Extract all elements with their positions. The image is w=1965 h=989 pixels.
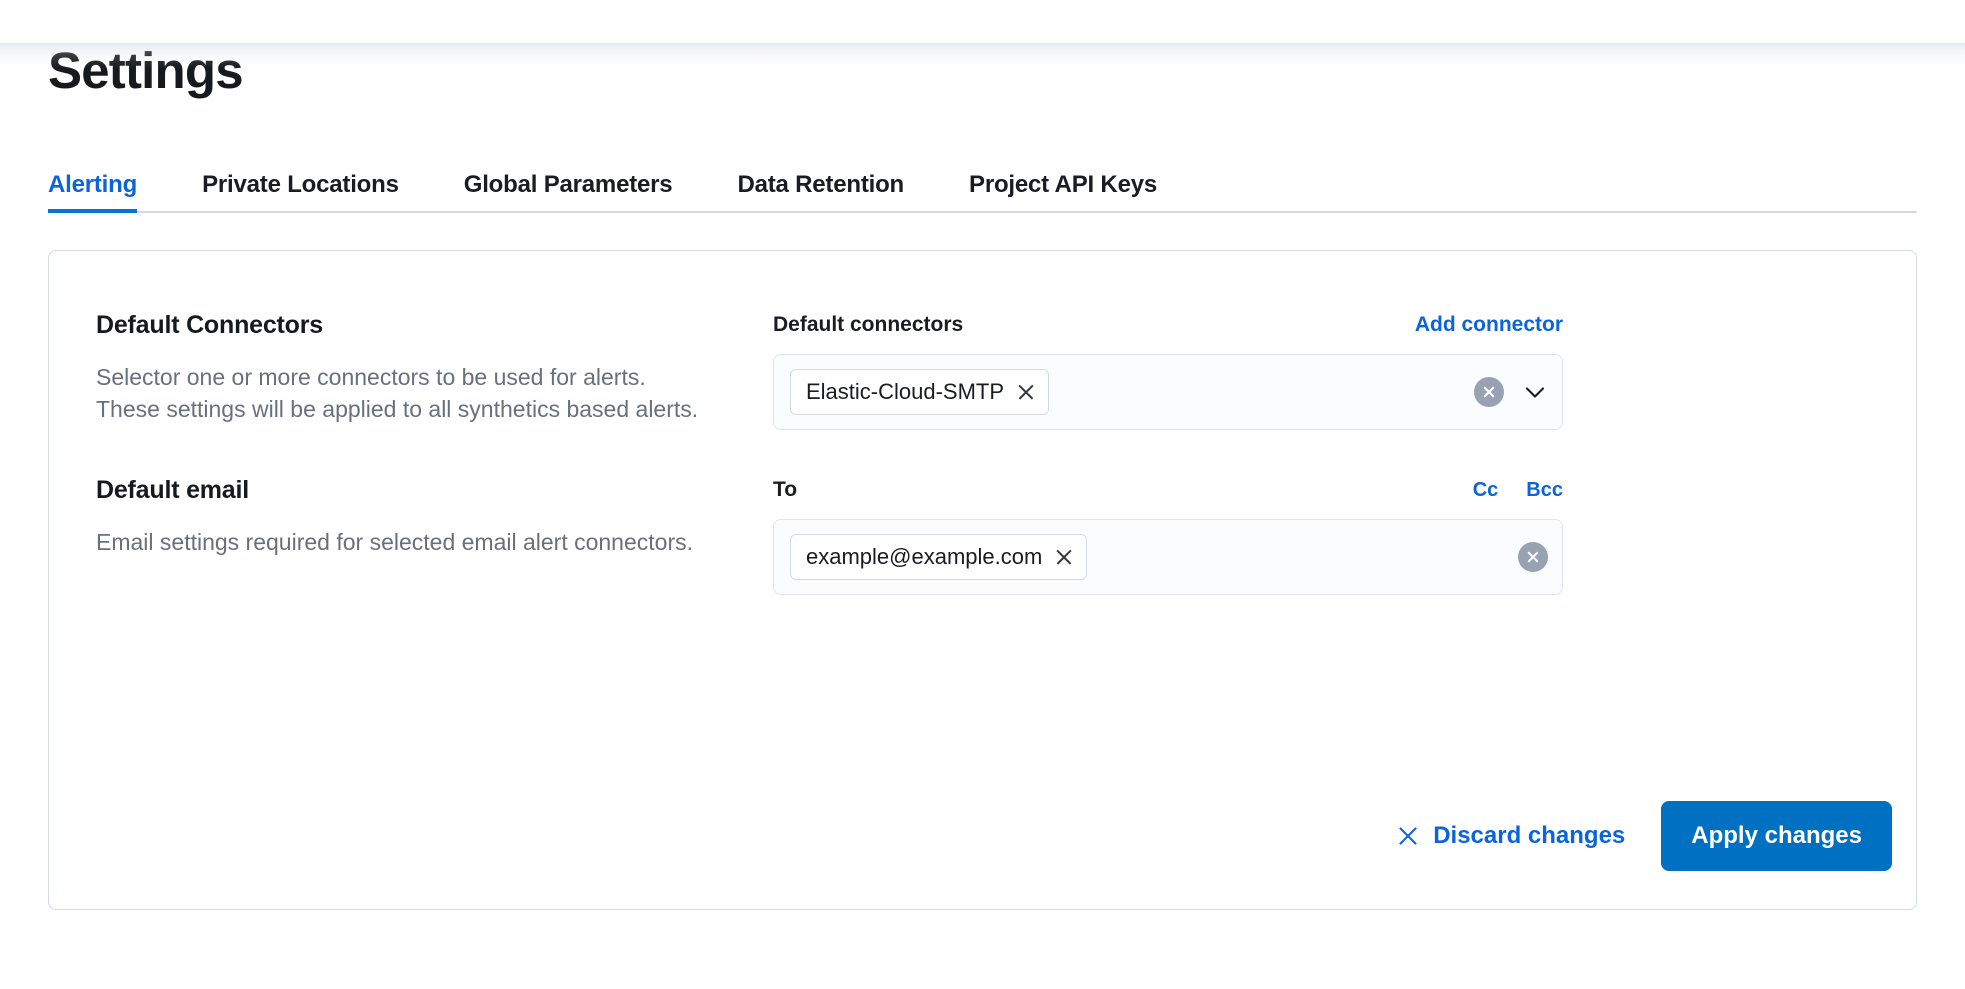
settings-tabs: Alerting Private Locations Global Parame… (48, 157, 1935, 213)
section-default-connectors-description: Default Connectors Selector one or more … (73, 311, 773, 425)
tab-project-api-keys[interactable]: Project API Keys (969, 171, 1157, 213)
page-title: Settings (48, 43, 1935, 99)
tab-global-parameters[interactable]: Global Parameters (464, 171, 673, 213)
default-connectors-field-group: Default connectors Add connector Elastic… (773, 311, 1563, 430)
to-label: To (773, 478, 797, 502)
section-default-connectors: Default Connectors Selector one or more … (73, 311, 1892, 430)
default-connectors-label: Default connectors (773, 313, 963, 337)
tab-private-locations[interactable]: Private Locations (202, 171, 399, 213)
close-icon[interactable] (1016, 383, 1035, 402)
settings-page: Settings Alerting Private Locations Glob… (0, 43, 1965, 910)
bcc-button[interactable]: Bcc (1526, 479, 1563, 502)
section-title-default-email: Default email (96, 476, 733, 505)
default-email-field-group: To Cc Bcc example@example.com (773, 476, 1563, 595)
default-email-field-header: To Cc Bcc (773, 478, 1563, 502)
connector-pill[interactable]: Elastic-Cloud-SMTP (790, 369, 1049, 415)
discard-changes-button[interactable]: Discard changes (1393, 814, 1629, 858)
tab-data-retention[interactable]: Data Retention (737, 171, 904, 213)
add-connector-button[interactable]: Add connector (1415, 313, 1563, 337)
cc-button[interactable]: Cc (1473, 479, 1499, 502)
settings-panel: Default Connectors Selector one or more … (48, 250, 1917, 910)
section-default-email: Default email Email settings required fo… (73, 476, 1892, 595)
section-description-default-email: Email settings required for selected ema… (96, 526, 706, 558)
clear-circle-icon[interactable] (1474, 377, 1504, 407)
close-icon (1397, 825, 1419, 847)
section-default-email-description: Default email Email settings required fo… (73, 476, 773, 558)
close-icon[interactable] (1054, 548, 1073, 567)
to-recipients-combobox[interactable]: example@example.com (773, 519, 1563, 595)
recipient-pill[interactable]: example@example.com (790, 534, 1087, 580)
section-description-default-connectors: Selector one or more connectors to be us… (96, 361, 706, 425)
default-email-actions: Cc Bcc (1473, 479, 1563, 502)
panel-footer-actions: Discard changes Apply changes (1393, 801, 1892, 871)
chevron-down-icon[interactable] (1522, 379, 1548, 405)
default-connectors-field-header: Default connectors Add connector (773, 313, 1563, 337)
section-title-default-connectors: Default Connectors (96, 311, 733, 340)
recipient-pill-label: example@example.com (806, 544, 1042, 570)
discard-changes-label: Discard changes (1433, 822, 1625, 850)
tab-alerting[interactable]: Alerting (48, 171, 137, 213)
connector-pill-label: Elastic-Cloud-SMTP (806, 379, 1004, 405)
clear-circle-icon[interactable] (1518, 542, 1548, 572)
default-connectors-combobox[interactable]: Elastic-Cloud-SMTP (773, 354, 1563, 430)
apply-changes-button[interactable]: Apply changes (1661, 801, 1892, 871)
default-connectors-actions: Add connector (1415, 313, 1563, 337)
